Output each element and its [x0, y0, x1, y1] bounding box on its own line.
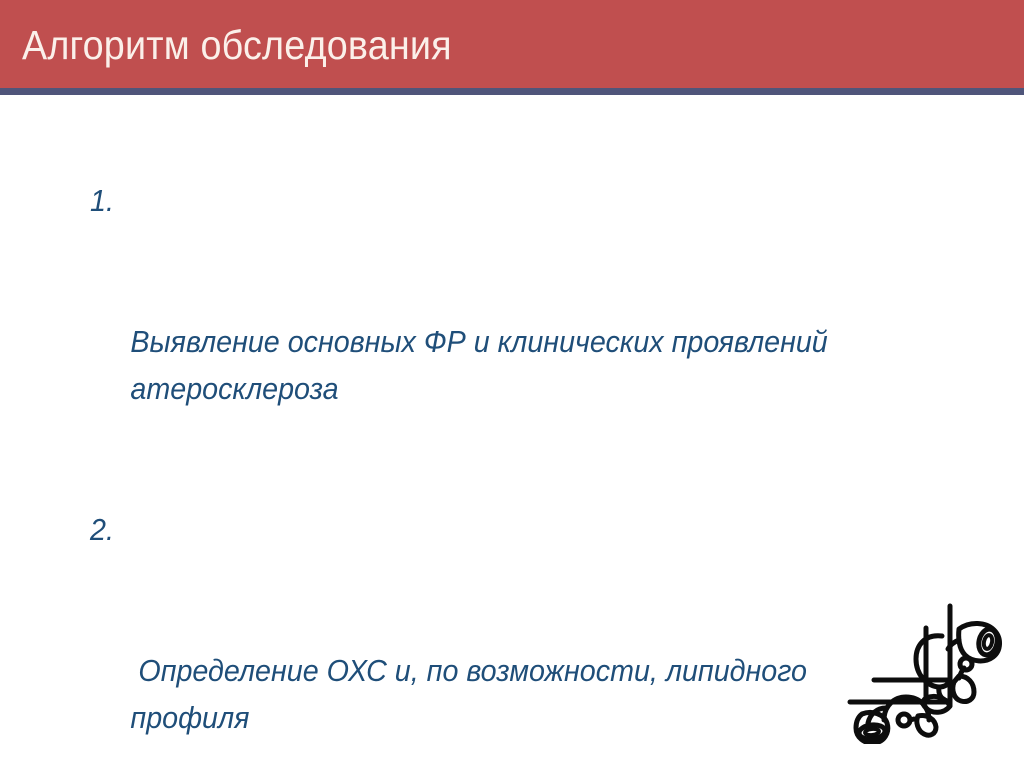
slide-title: Алгоритм обследования — [22, 20, 905, 70]
list-item: 2. Определение ОХС и, по возможности, ли… — [90, 507, 842, 767]
list-item-text: Выявление основных ФР и клинических проя… — [130, 319, 842, 413]
corner-flourish-icon — [846, 602, 1018, 744]
numbered-list: 1. Выявление основных ФР и клинических п… — [90, 178, 890, 767]
list-item-marker: 2. — [90, 507, 114, 554]
slide-body: 1. Выявление основных ФР и клинических п… — [90, 178, 890, 767]
list-item: 1. Выявление основных ФР и клинических п… — [90, 178, 842, 507]
slide: Алгоритм обследования 1. Выявление основ… — [0, 0, 1024, 767]
list-item-text: Определение ОХС и, по возможности, липид… — [130, 648, 842, 742]
slide-title-underline-rule — [0, 88, 1024, 95]
list-item-marker: 1. — [90, 178, 114, 225]
